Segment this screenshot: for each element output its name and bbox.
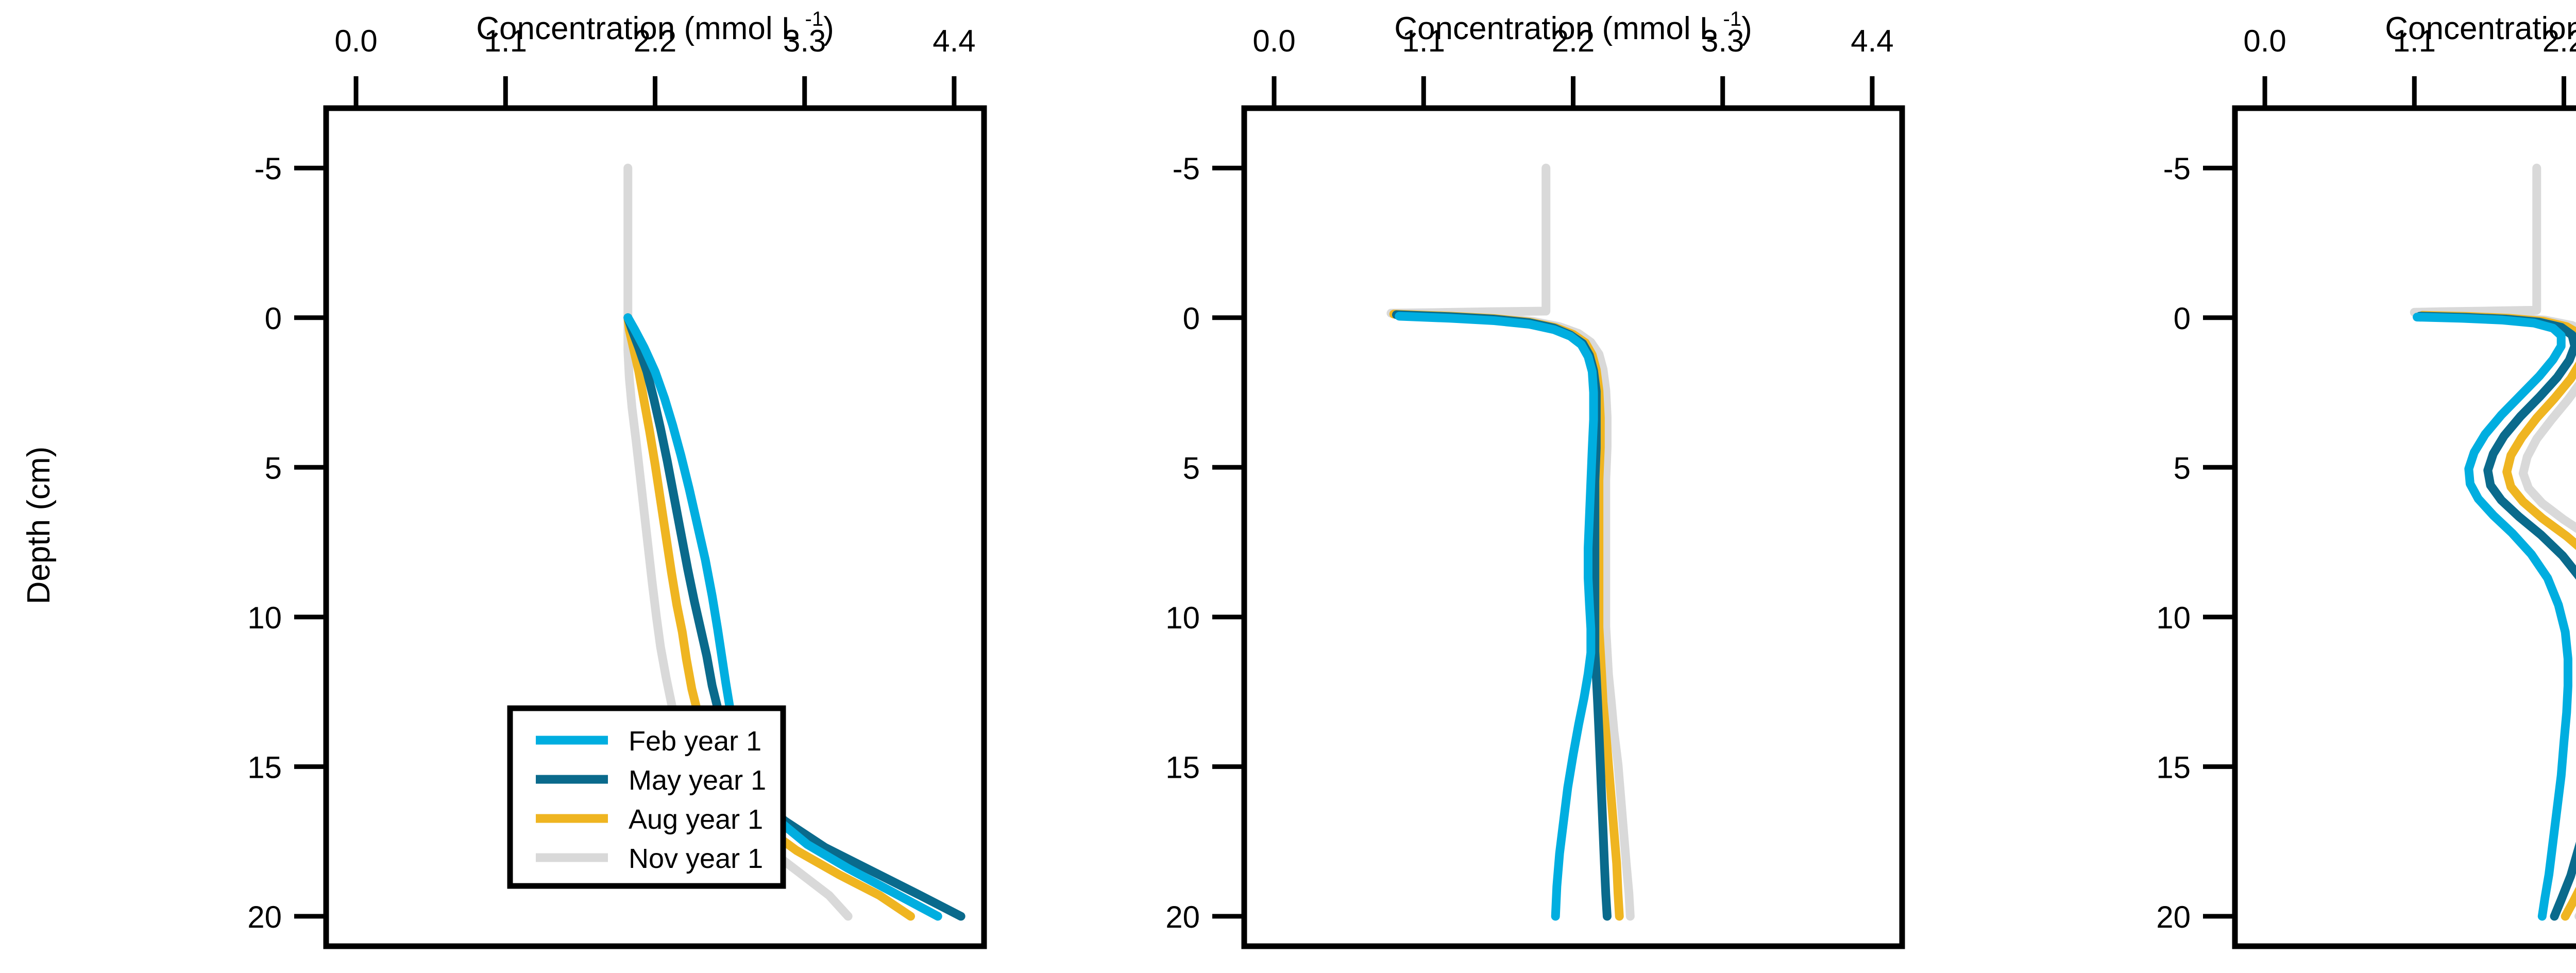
multi-panel-depth-profile-figure: Depth (cm)Concentration (mmol L -1)0.01.… — [0, 0, 2576, 973]
x-tick-label: 0.0 — [334, 24, 377, 58]
y-tick-label: 5 — [2174, 451, 2191, 485]
x-tick-label: 3.3 — [1701, 24, 1744, 58]
y-tick-label: 10 — [1165, 601, 1200, 635]
plot-frame — [1244, 108, 1902, 946]
y-tick-label: 0 — [265, 301, 282, 336]
y-tick-label: -5 — [255, 151, 282, 186]
panel-3: Concentration (mmol L -1)0.01.12.23.34.4… — [2156, 8, 2576, 946]
x-tick-label: 4.4 — [1851, 24, 1893, 58]
x-tick-label: 2.2 — [1552, 24, 1595, 58]
y-axis-label: Depth (cm) — [21, 447, 57, 605]
legend-label-3: Nov year 1 — [629, 843, 763, 874]
legend-label-1: May year 1 — [629, 765, 766, 796]
panel-1: Concentration (mmol L -1)0.01.12.23.34.4… — [247, 8, 984, 946]
x-tick-label: 1.1 — [2393, 24, 2436, 58]
panel-2: Concentration (mmol L -1)0.01.12.23.34.4… — [1165, 8, 1902, 946]
y-tick-label: 15 — [1165, 750, 1200, 784]
legend: Feb year 1May year 1Aug year 1Nov year 1 — [510, 708, 783, 886]
x-tick-label: 4.4 — [933, 24, 975, 58]
y-tick-label: 15 — [2156, 750, 2191, 784]
x-tick-label: 3.3 — [783, 24, 826, 58]
plot-frame — [2235, 108, 2576, 946]
y-tick-label: 20 — [247, 900, 282, 934]
y-tick-label: 5 — [265, 451, 282, 485]
y-tick-label: 20 — [2156, 900, 2191, 934]
y-tick-label: 20 — [1165, 900, 1200, 934]
x-tick-label: 2.2 — [634, 24, 676, 58]
x-tick-label: 2.2 — [2543, 24, 2576, 58]
series-group — [2414, 168, 2576, 916]
legend-label-2: Aug year 1 — [629, 804, 763, 835]
y-tick-label: -5 — [1173, 151, 1200, 186]
series-line-aug-year-1 — [1394, 314, 1619, 916]
y-tick-label: 0 — [2174, 301, 2191, 336]
series-line-feb-year-1 — [1399, 316, 1594, 916]
series-line-may-year-1 — [1397, 315, 1607, 916]
x-tick-label: 1.1 — [1402, 24, 1445, 58]
y-tick-label: 10 — [2156, 601, 2191, 635]
series-group — [1391, 168, 1630, 916]
x-tick-label: 0.0 — [2243, 24, 2286, 58]
y-tick-label: 15 — [247, 750, 282, 784]
x-tick-label: 0.0 — [1252, 24, 1295, 58]
legend-label-0: Feb year 1 — [629, 726, 761, 757]
y-tick-label: 5 — [1183, 451, 1200, 485]
y-tick-label: 10 — [247, 601, 282, 635]
figure-canvas: Depth (cm)Concentration (mmol L -1)0.01.… — [0, 0, 2576, 973]
y-tick-label: -5 — [2163, 151, 2191, 186]
y-tick-label: 0 — [1183, 301, 1200, 336]
x-tick-label: 1.1 — [484, 24, 527, 58]
